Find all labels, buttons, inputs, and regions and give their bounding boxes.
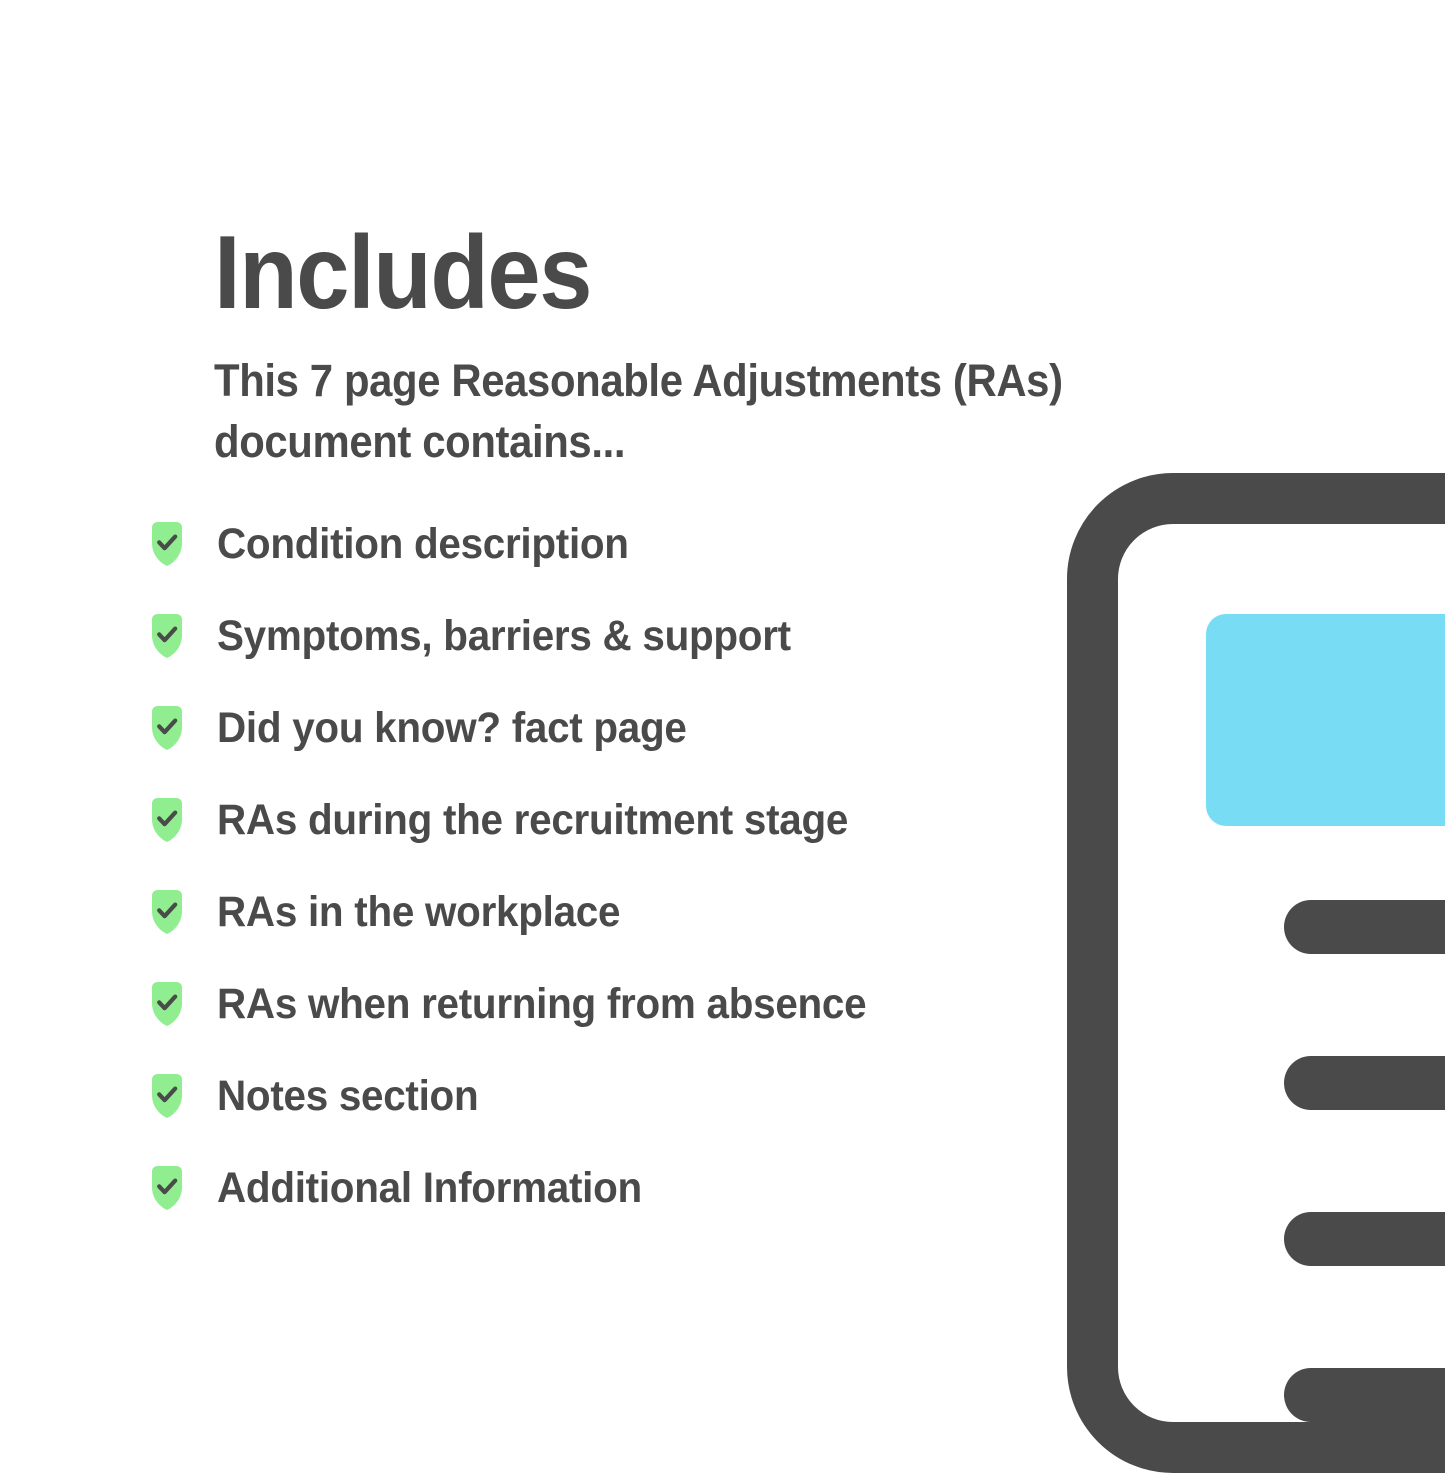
checklist-item: Did you know? fact page [146, 682, 1086, 774]
checklist-item-label: Condition description [217, 523, 629, 566]
document-text-line-1 [1284, 900, 1445, 954]
shield-check-icon [146, 797, 188, 843]
shield-check-icon [146, 1073, 188, 1119]
checklist-item: Notes section [146, 1050, 1086, 1142]
shield-check-icon [146, 981, 188, 1027]
checklist-item-label: RAs during the recruitment stage [217, 799, 848, 842]
document-text-line-4 [1284, 1368, 1445, 1422]
checklist-item: Condition description [146, 498, 1086, 590]
checklist-item: Symptoms, barriers & support [146, 590, 1086, 682]
page-subtitle: This 7 page Reasonable Adjustments (RAs)… [214, 351, 1209, 473]
shield-check-icon [146, 613, 188, 659]
checklist-item-label: Symptoms, barriers & support [217, 615, 791, 658]
document-text-line-2 [1284, 1056, 1445, 1110]
shield-check-icon [146, 1165, 188, 1211]
checklist-item-label: RAs in the workplace [217, 891, 620, 934]
page-title: Includes [214, 220, 591, 326]
document-text-line-3 [1284, 1212, 1445, 1266]
shield-check-icon [146, 705, 188, 751]
shield-check-icon [146, 889, 188, 935]
checklist-item-label: Additional Information [217, 1167, 642, 1210]
checklist-item-label: Notes section [217, 1075, 478, 1118]
shield-check-icon [146, 521, 188, 567]
checklist-item: Additional Information [146, 1142, 1086, 1234]
includes-panel: Includes This 7 page Reasonable Adjustme… [0, 0, 1100, 1445]
includes-checklist: Condition descriptionSymptoms, barriers … [146, 498, 1086, 1234]
checklist-item: RAs during the recruitment stage [146, 774, 1086, 866]
checklist-item: RAs when returning from absence [146, 958, 1086, 1050]
checklist-item: RAs in the workplace [146, 866, 1086, 958]
document-card-frame [1067, 473, 1445, 1473]
checklist-item-label: RAs when returning from absence [217, 983, 866, 1026]
checklist-item-label: Did you know? fact page [217, 707, 687, 750]
document-banner [1206, 614, 1445, 826]
document-card-illustration [1067, 473, 1445, 1473]
